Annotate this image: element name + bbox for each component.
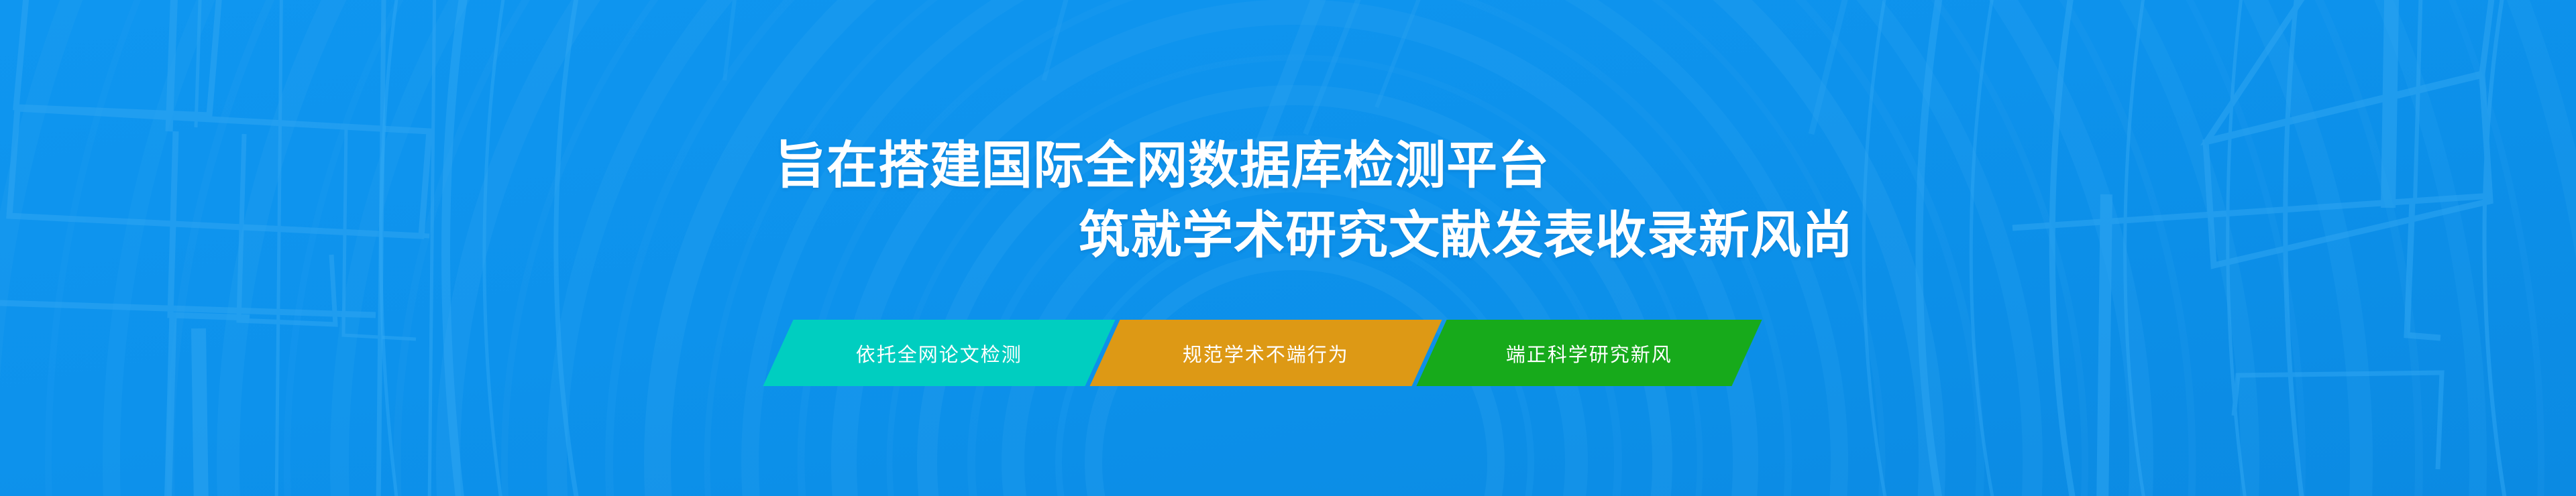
- headline-group: 旨在搭建国际全网数据库检测平台 筑就学术研究文献发表收录新风尚: [0, 131, 2576, 271]
- headline-line-1: 旨在搭建国际全网数据库检测平台: [775, 131, 2576, 201]
- feature-tag-label: 端正科学研究新风: [1506, 339, 1672, 367]
- feature-tag-misconduct[interactable]: 规范学术不端行为: [1089, 320, 1442, 386]
- feature-tag-label: 依托全网论文检测: [856, 339, 1022, 367]
- feature-tag-label: 规范学术不端行为: [1183, 339, 1349, 367]
- feature-tag-detection[interactable]: 依托全网论文检测: [763, 320, 1115, 386]
- feature-tag-integrity[interactable]: 端正科学研究新风: [1416, 320, 1762, 386]
- headline-line-2: 筑就学术研究文献发表收录新风尚: [1079, 201, 2576, 271]
- feature-tag-strip: 依托全网论文检测 规范学术不端行为 端正科学研究新风: [778, 320, 1747, 386]
- promo-banner: 旨在搭建国际全网数据库检测平台 筑就学术研究文献发表收录新风尚 依托全网论文检测…: [0, 0, 2576, 496]
